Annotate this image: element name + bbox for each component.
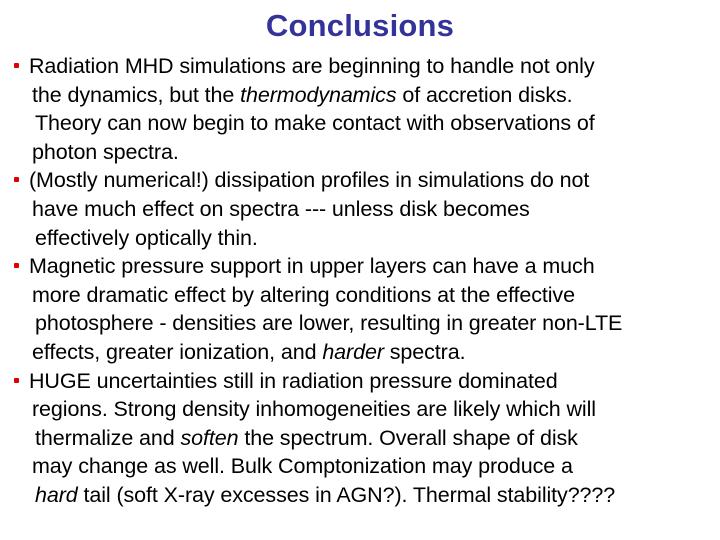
emphasis-text: hard	[35, 483, 78, 507]
presentation-slide: Conclusions Radiation MHD simulations ar…	[0, 0, 720, 540]
body-text: Theory can now begin to make contact wit…	[35, 111, 595, 135]
bullet-line: may change as well. Bulk Comptonization …	[29, 452, 716, 481]
bullet-line: the dynamics, but the thermodynamics of …	[29, 81, 716, 110]
body-text: photon spectra.	[32, 140, 179, 164]
body-text: (Mostly numerical!) dissipation profiles…	[29, 168, 589, 192]
bullet-paragraph: HUGE uncertainties still in radiation pr…	[0, 367, 720, 510]
bullet-line: Magnetic pressure support in upper layer…	[29, 252, 716, 281]
bullet-line: regions. Strong density inhomogeneities …	[29, 395, 716, 424]
bullet-line: photosphere - densities are lower, resul…	[29, 309, 716, 338]
body-text: more dramatic effect by altering conditi…	[32, 283, 575, 307]
bullet-line: Radiation MHD simulations are beginning …	[29, 52, 716, 81]
body-text: Magnetic pressure support in upper layer…	[29, 254, 595, 278]
slide-body: Radiation MHD simulations are beginning …	[0, 52, 720, 510]
bullet-paragraph: Radiation MHD simulations are beginning …	[0, 52, 720, 166]
bullet-line: more dramatic effect by altering conditi…	[29, 281, 716, 310]
body-text: tail (soft X-ray excesses in AGN?). Ther…	[78, 483, 616, 507]
bullet-line: hard tail (soft X-ray excesses in AGN?).…	[29, 481, 716, 510]
bullet-dot-icon	[14, 263, 19, 268]
page-title: Conclusions	[0, 8, 720, 44]
bullet-line: effectively optically thin.	[29, 224, 716, 253]
body-text: may change as well. Bulk Comptonization …	[32, 454, 573, 478]
body-text: photosphere - densities are lower, resul…	[35, 311, 622, 335]
body-text: HUGE uncertainties still in radiation pr…	[29, 369, 558, 393]
bullet-dot-icon	[14, 63, 19, 68]
emphasis-text: soften	[181, 426, 239, 450]
bullet-paragraph: Magnetic pressure support in upper layer…	[0, 252, 720, 366]
body-text: the spectrum. Overall shape of disk	[238, 426, 577, 450]
bullet-line: (Mostly numerical!) dissipation profiles…	[29, 166, 716, 195]
body-text: Radiation MHD simulations are beginning …	[29, 54, 594, 78]
body-text: have much effect on spectra --- unless d…	[32, 197, 530, 221]
body-text: effects, greater ionization, and	[32, 340, 322, 364]
body-text: thermalize and	[35, 426, 181, 450]
body-text: regions. Strong density inhomogeneities …	[32, 397, 596, 421]
bullet-line: Theory can now begin to make contact wit…	[29, 109, 716, 138]
bullet-line: thermalize and soften the spectrum. Over…	[29, 424, 716, 453]
body-text: spectra.	[384, 340, 466, 364]
bullet-dot-icon	[14, 177, 19, 182]
emphasis-text: thermodynamics	[240, 83, 396, 107]
bullet-line: have much effect on spectra --- unless d…	[29, 195, 716, 224]
bullet-line: photon spectra.	[29, 138, 716, 167]
bullet-paragraph: (Mostly numerical!) dissipation profiles…	[0, 166, 720, 252]
bullet-line: effects, greater ionization, and harder …	[29, 338, 716, 367]
body-text: the dynamics, but the	[32, 83, 240, 107]
emphasis-text: harder	[322, 340, 384, 364]
body-text: of accretion disks.	[396, 83, 572, 107]
body-text: effectively optically thin.	[35, 226, 258, 250]
bullet-line: HUGE uncertainties still in radiation pr…	[29, 367, 716, 396]
bullet-dot-icon	[14, 378, 19, 383]
